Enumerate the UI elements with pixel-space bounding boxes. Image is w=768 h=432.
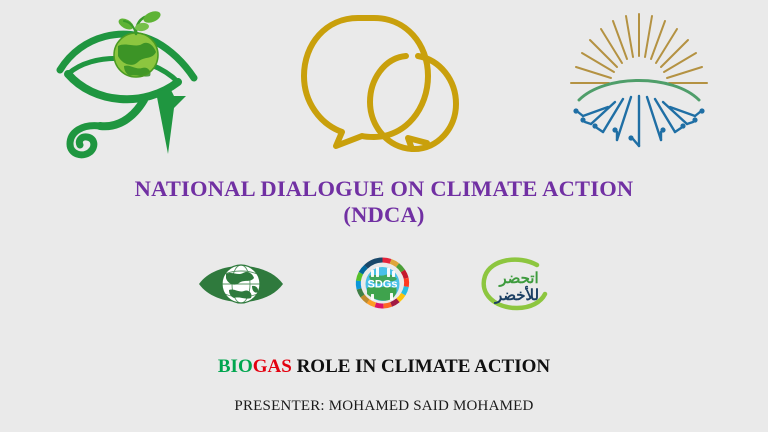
subtitle-bio: BIO <box>218 356 253 377</box>
presentation-slide: NATIONAL DIALOGUE ON CLIMATE ACTION (NDC… <box>0 0 768 432</box>
dialogue-speech-bubbles-logo <box>296 8 476 156</box>
sdgs-logo-label: SDGs <box>368 279 398 291</box>
partner-logo-row: SDGs اتحضر للأخضر <box>0 256 768 314</box>
subtitle-rest: ROLE IN CLIMATE ACTION <box>292 356 550 377</box>
title-line-1: NATIONAL DIALOGUE ON CLIMATE ACTION <box>0 176 768 202</box>
slide-subtitle: BIOGAS ROLE IN CLIMATE ACTION <box>0 356 768 378</box>
subtitle-gas: GAS <box>253 356 292 377</box>
slide-title: NATIONAL DIALOGUE ON CLIMATE ACTION (NDC… <box>0 176 768 228</box>
eye-of-horus-globe-logo <box>52 8 202 156</box>
top-logo-row <box>0 8 768 158</box>
etahadar-line-1: اتحضر <box>498 270 538 287</box>
green-eye-globe-logo <box>196 256 286 312</box>
sunrise-roots-logo <box>565 8 713 148</box>
etahadar-line-2: للأخضر <box>494 285 539 304</box>
presenter-line: PRESENTER: MOHAMED SAID MOHAMED <box>0 398 768 415</box>
etahadar-lel-akhdar-logo: اتحضر للأخضر <box>473 256 557 312</box>
sdgs-logo: SDGs <box>345 256 420 312</box>
title-line-2: (NDCA) <box>0 202 768 228</box>
